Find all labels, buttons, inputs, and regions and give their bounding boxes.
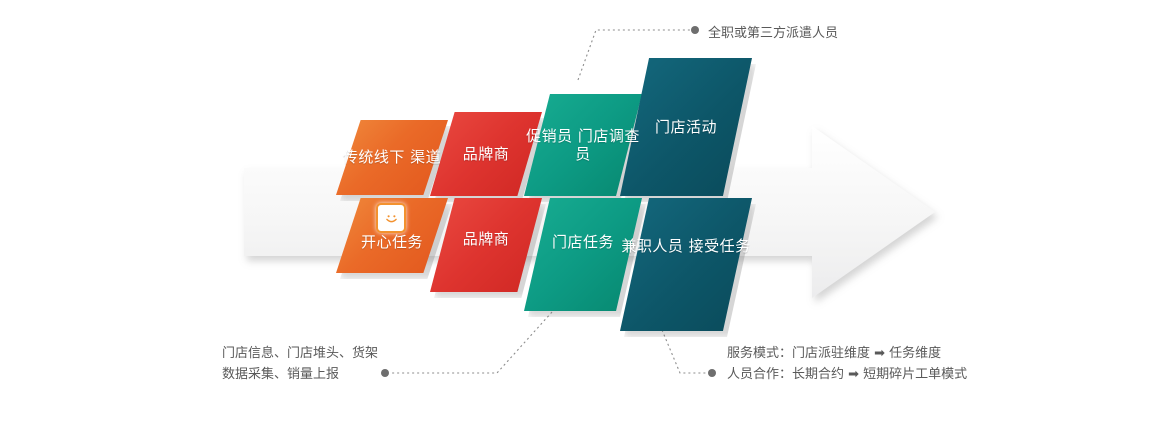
chevron-label-line1: 品牌商 [463,145,510,163]
chevron-top-2-label: 品牌商 [463,145,510,163]
connector-dot-top-right [691,26,699,34]
chevron-bottom-4[interactable]: 兼职人员 接受任务 [620,198,752,331]
chevron-label-line1: 门店任务 [552,233,614,251]
chevron-label-line2: 接受任务 [689,237,751,255]
chevron-bottom-3-label: 门店任务 [552,233,614,251]
chevron-label-line1: 兼职人员 [621,237,683,255]
callout-line: 人员合作：长期合约 ➡ 短期碎片工单模式 [727,364,967,385]
callout-service-model-change: 服务模式：门店派驻维度 ➡ 任务维度 人员合作：长期合约 ➡ 短期碎片工单模式 [727,343,967,385]
chevron-bottom-2-label: 品牌商 [463,230,510,248]
connector-bottom-left [390,312,552,373]
smiley-face-icon [376,203,406,233]
chevron-label-line2: 门店调查员 [575,127,640,163]
callout-staffing-traditional: 全职或第三方派遣人员 [708,23,838,44]
chevron-top-1-label: 传统线下 渠道 [343,148,441,166]
chevron-top-3-label: 促销员 门店调查员 [524,127,642,164]
connector-dot-bottom-left [381,369,389,377]
callout-line: 服务模式：门店派驻维度 ➡ 任务维度 [727,343,967,364]
callout-line: 门店信息、门店堆头、货架 [222,343,378,364]
connector-dot-bottom-right [708,369,716,377]
chevron-bottom-1-label: 开心任务 [361,233,423,251]
chevron-label-line1: 开心任务 [361,233,423,251]
chevron-label-line2: 渠道 [410,148,441,166]
chevron-label-line1: 品牌商 [463,230,510,248]
diagram-canvas: 传统线下 渠道 品牌商 促销员 门店调查员 门店活动 [0,0,1150,430]
chevron-top-4-label: 门店活动 [655,118,717,136]
callout-store-data-tasks: 门店信息、门店堆头、货架 数据采集、销量上报 [222,343,378,385]
callout-line: 全职或第三方派遣人员 [708,23,838,44]
callout-line: 数据采集、销量上报 [222,364,378,385]
chevron-label-line1: 门店活动 [655,118,717,136]
chevron-label-line1: 促销员 [526,127,573,145]
chevron-label-line1: 传统线下 [343,148,405,166]
chevron-bottom-4-label: 兼职人员 接受任务 [621,237,750,255]
